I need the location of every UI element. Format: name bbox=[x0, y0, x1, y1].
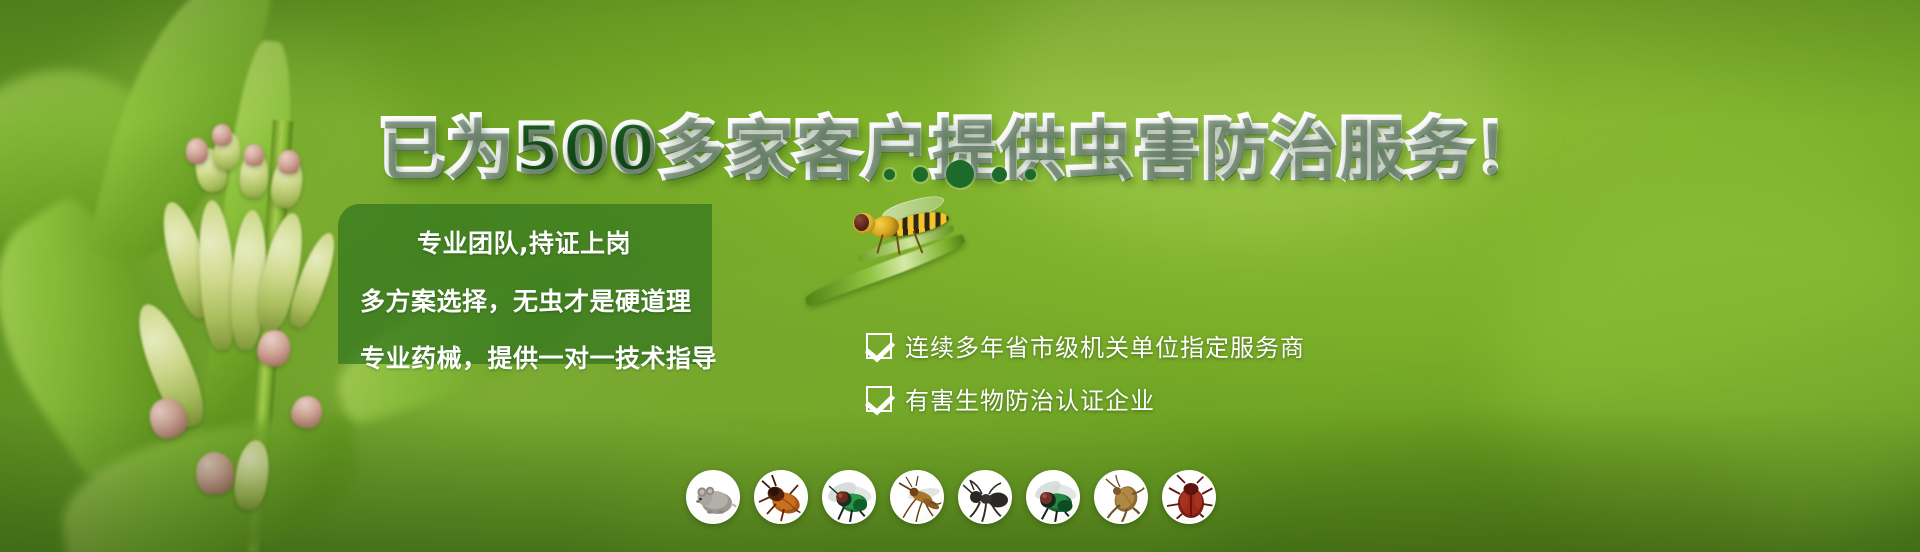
dot-divider bbox=[884, 160, 1036, 188]
dot-large-icon bbox=[946, 160, 974, 188]
bedbug-icon[interactable] bbox=[1162, 470, 1216, 524]
flea-icon[interactable] bbox=[1094, 470, 1148, 524]
dot-small-icon bbox=[884, 169, 895, 180]
fly-leg bbox=[913, 230, 924, 253]
list-item: 有害生物防治认证企业 bbox=[866, 381, 1305, 416]
hoverfly-icon bbox=[845, 198, 955, 254]
bottle-fly-icon[interactable] bbox=[822, 470, 876, 524]
dot-medium-icon bbox=[992, 167, 1007, 182]
feature-panel-line-1: 专业团队,持证上岗 bbox=[360, 224, 686, 260]
feature-panel: 专业团队,持证上岗 多方案选择，无虫才是硬道理 专业药械，提供一对一技术指导 bbox=[338, 204, 712, 364]
fly-eye bbox=[854, 214, 869, 231]
ant-icon[interactable] bbox=[958, 470, 1012, 524]
checklist-item-label: 连续多年省市级机关单位指定服务商 bbox=[905, 328, 1305, 363]
checkbox-checked-icon bbox=[866, 333, 892, 359]
dot-medium-icon bbox=[913, 167, 928, 182]
dot-small-icon bbox=[1025, 169, 1036, 180]
feature-panel-line-2: 多方案选择，无虫才是硬道理 bbox=[360, 282, 686, 318]
checklist-item-label: 有害生物防治认证企业 bbox=[905, 381, 1155, 416]
house-fly-icon[interactable] bbox=[1026, 470, 1080, 524]
feature-panel-line-3: 专业药械，提供一对一技术指导 bbox=[360, 339, 686, 375]
credentials-checklist: 连续多年省市级机关单位指定服务商 有害生物防治认证企业 bbox=[866, 328, 1305, 434]
checkbox-checked-icon bbox=[866, 386, 892, 412]
mosquito-icon[interactable] bbox=[890, 470, 944, 524]
list-item: 连续多年省市级机关单位指定服务商 bbox=[866, 328, 1305, 363]
pest-icon-row bbox=[686, 470, 1216, 524]
cockroach-icon[interactable] bbox=[754, 470, 808, 524]
mouse-icon[interactable] bbox=[686, 470, 740, 524]
fly-leg bbox=[895, 233, 900, 255]
pest-control-hero-banner: 已为500多家客户提供虫害防治服务！ 专业团队,持证上岗 多方案选择，无虫才是硬… bbox=[0, 0, 1920, 552]
